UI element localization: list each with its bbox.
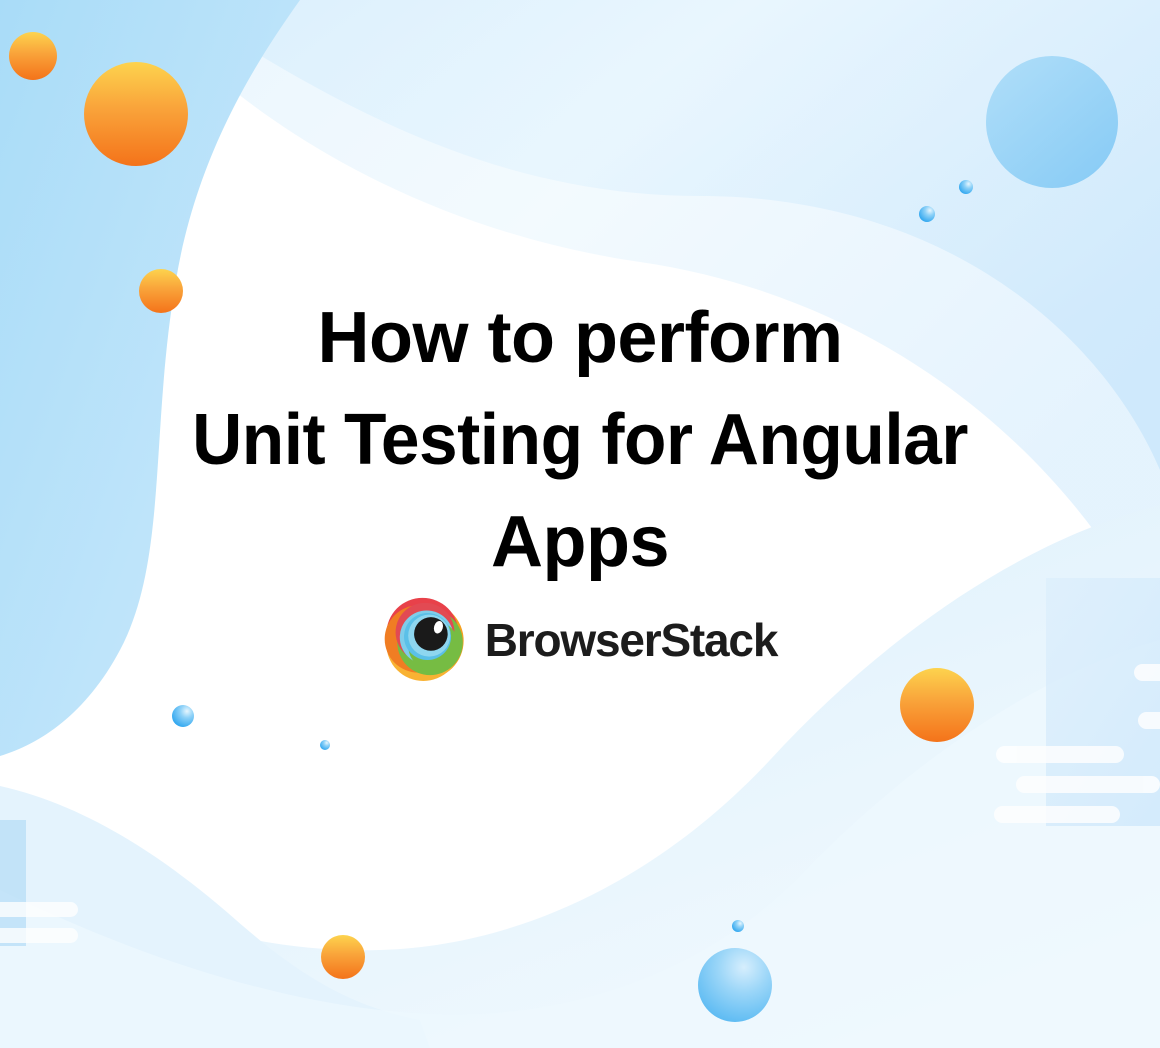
headline-line-3: Apps: [0, 491, 1160, 593]
page-title: How to perform Unit Testing for Angular …: [0, 287, 1160, 593]
browserstack-wordmark: BrowserStack: [485, 617, 777, 663]
blog-cover-card: How to perform Unit Testing for Angular …: [0, 0, 1160, 1048]
headline-line-1: How to perform: [0, 287, 1160, 389]
headline-line-2: Unit Testing for Angular: [20, 389, 1139, 491]
browserstack-logo-lockup: BrowserStack: [0, 597, 1160, 681]
browserstack-eye-icon: [383, 597, 467, 681]
cover-content: How to perform Unit Testing for Angular …: [0, 0, 1160, 1048]
